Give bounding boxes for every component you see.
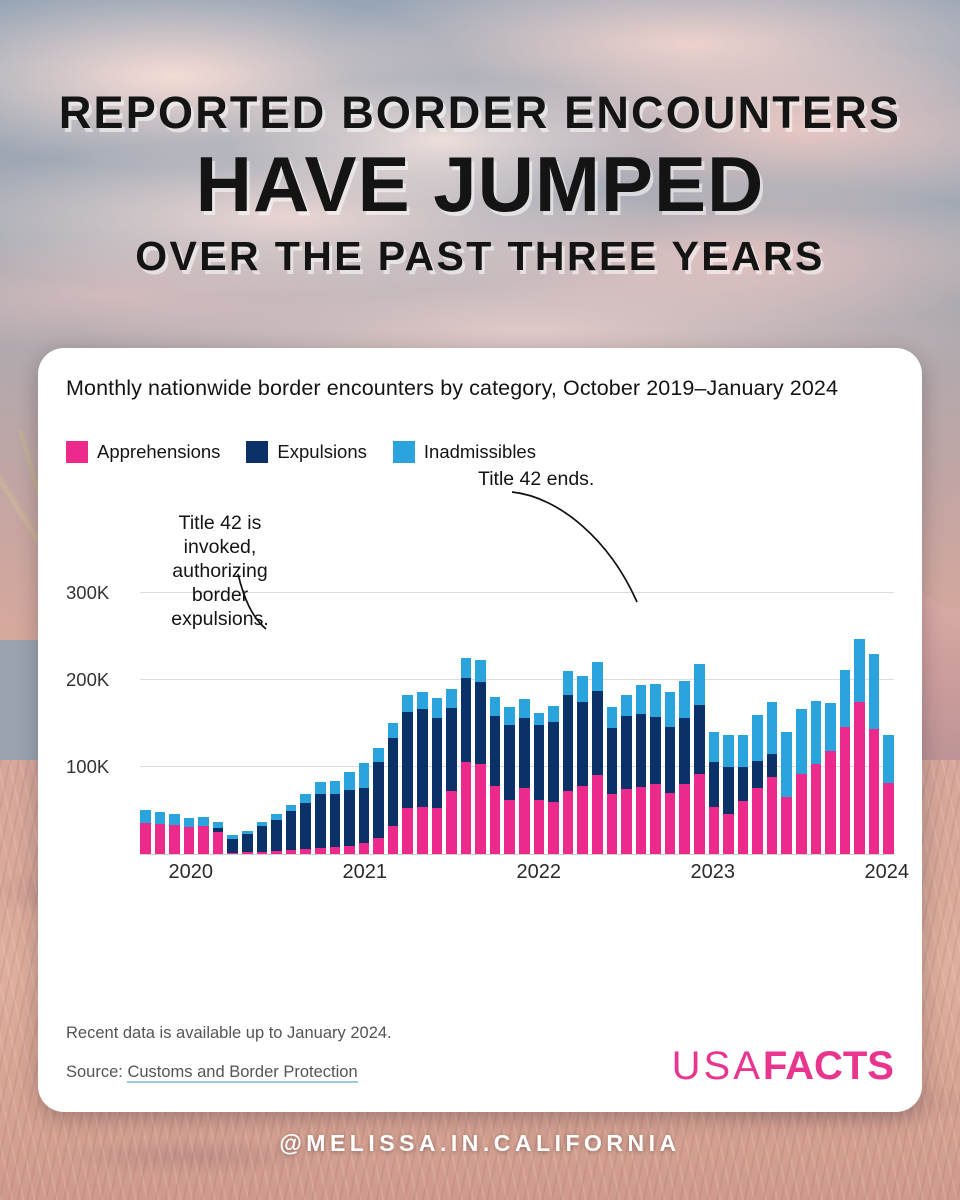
- bar-segment-inadmissibles: [811, 701, 822, 764]
- bar-segment-inadmissibles: [198, 817, 209, 826]
- bar-segment-expulsions: [432, 718, 443, 808]
- bar-segment-apprehensions: [636, 787, 647, 854]
- bar-segment-inadmissibles: [548, 706, 559, 723]
- bar-segment-apprehensions: [446, 791, 457, 854]
- bar-segment-apprehensions: [883, 783, 894, 853]
- bar-segment-expulsions: [650, 717, 661, 784]
- bar-segment-apprehensions: [490, 786, 501, 854]
- bar-segment-inadmissibles: [665, 692, 676, 727]
- legend-label-expulsions: Expulsions: [277, 441, 366, 463]
- bar-segment-inadmissibles: [330, 781, 341, 794]
- bar-2021-09[interactable]: [475, 524, 486, 854]
- bar-segment-inadmissibles: [781, 732, 792, 797]
- bar-segment-apprehensions: [796, 774, 807, 854]
- bar-segment-apprehensions: [359, 843, 370, 853]
- y-axis-label-300K: 300K: [66, 582, 130, 604]
- bar-segment-apprehensions: [869, 729, 880, 853]
- bar-segment-apprehensions: [432, 808, 443, 853]
- headline: REPORTED BORDER ENCOUNTERS HAVE JUMPED O…: [0, 88, 960, 280]
- bar-segment-apprehensions: [825, 751, 836, 853]
- bar-segment-inadmissibles: [621, 695, 632, 717]
- bar-segment-inadmissibles: [417, 692, 428, 709]
- bar-segment-expulsions: [519, 718, 530, 787]
- social-handle: @MELISSA.IN.CALIFORNIA: [0, 1130, 960, 1157]
- bar-segment-expulsions: [271, 820, 282, 851]
- bar-2023-01[interactable]: [709, 524, 720, 854]
- bar-2023-07[interactable]: [796, 524, 807, 854]
- bar-segment-inadmissibles: [475, 660, 486, 682]
- bar-segment-expulsions: [227, 839, 238, 853]
- bar-segment-inadmissibles: [169, 814, 180, 825]
- bar-segment-apprehensions: [665, 793, 676, 854]
- bar-segment-inadmissibles: [796, 709, 807, 773]
- bar-2023-04[interactable]: [752, 524, 763, 854]
- bar-segment-expulsions: [767, 754, 778, 777]
- bar-segment-expulsions: [257, 826, 268, 852]
- logo-usa: USA: [672, 1044, 763, 1088]
- bar-2021-03[interactable]: [388, 524, 399, 854]
- bar-segment-apprehensions: [650, 784, 661, 853]
- bar-segment-inadmissibles: [446, 689, 457, 708]
- bar-segment-expulsions: [461, 678, 472, 762]
- bar-segment-expulsions: [709, 762, 720, 807]
- bar-2022-05[interactable]: [592, 524, 603, 854]
- x-axis-tick-2021: 2021: [343, 861, 388, 884]
- bar-segment-apprehensions: [257, 852, 268, 854]
- bar-segment-inadmissibles: [752, 715, 763, 760]
- bar-segment-apprehensions: [519, 788, 530, 854]
- bar-segment-inadmissibles: [344, 772, 355, 790]
- bar-segment-expulsions: [621, 716, 632, 789]
- bar-segment-inadmissibles: [373, 748, 384, 762]
- bar-segment-inadmissibles: [315, 782, 326, 793]
- bar-segment-apprehensions: [286, 850, 297, 853]
- bar-segment-inadmissibles: [184, 818, 195, 828]
- x-axis-tick-2020: 2020: [169, 861, 214, 884]
- footer-note: Recent data is available up to January 2…: [66, 1024, 894, 1043]
- bar-segment-inadmissibles: [636, 685, 647, 714]
- legend-label-inadmissibles: Inadmissibles: [424, 441, 536, 463]
- bar-2022-04[interactable]: [577, 524, 588, 854]
- bar-segment-apprehensions: [854, 702, 865, 853]
- legend-swatch-expulsions: [246, 441, 268, 463]
- bar-segment-apprehensions: [140, 823, 151, 853]
- bar-segment-inadmissibles: [738, 735, 749, 767]
- bar-segment-inadmissibles: [534, 713, 545, 725]
- bar-2021-10[interactable]: [490, 524, 501, 854]
- x-axis-tick-2024: 2024: [865, 861, 910, 884]
- bar-segment-expulsions: [534, 725, 545, 800]
- headline-line-2: HAVE JUMPED: [0, 142, 960, 226]
- bar-2021-06[interactable]: [432, 524, 443, 854]
- chart-card: Monthly nationwide border encounters by …: [38, 348, 922, 1112]
- bar-segment-expulsions: [475, 682, 486, 765]
- bar-segment-apprehensions: [679, 784, 690, 853]
- bar-2022-11[interactable]: [679, 524, 690, 854]
- bar-segment-apprehensions: [577, 786, 588, 854]
- bar-segment-expulsions: [548, 722, 559, 802]
- bar-segment-apprehensions: [344, 846, 355, 854]
- bar-segment-apprehensions: [315, 848, 326, 853]
- bar-segment-expulsions: [286, 811, 297, 850]
- x-axis-tick-2023: 2023: [691, 861, 736, 884]
- bar-segment-expulsions: [665, 727, 676, 793]
- bar-segment-apprehensions: [504, 800, 515, 854]
- bar-segment-expulsions: [242, 834, 253, 852]
- bar-segment-apprehensions: [242, 852, 253, 853]
- bar-segment-expulsions: [417, 709, 428, 806]
- legend-swatch-apprehensions: [66, 441, 88, 463]
- bar-segment-inadmissibles: [461, 658, 472, 678]
- bar-segment-inadmissibles: [840, 670, 851, 726]
- bar-2023-12[interactable]: [869, 524, 880, 854]
- bar-segment-inadmissibles: [504, 707, 515, 725]
- bar-segment-apprehensions: [723, 814, 734, 853]
- bar-segment-inadmissibles: [650, 684, 661, 717]
- bar-2023-06[interactable]: [781, 524, 792, 854]
- bar-2022-03[interactable]: [563, 524, 574, 854]
- bar-2022-02[interactable]: [548, 524, 559, 854]
- bar-segment-inadmissibles: [709, 732, 720, 762]
- bar-segment-expulsions: [330, 794, 341, 848]
- bar-segment-apprehensions: [271, 851, 282, 854]
- bar-2021-01[interactable]: [359, 524, 370, 854]
- bar-2021-02[interactable]: [373, 524, 384, 854]
- bar-2020-12[interactable]: [344, 524, 355, 854]
- y-axis-label-200K: 200K: [66, 669, 130, 691]
- bar-segment-apprehensions: [694, 774, 705, 854]
- bar-segment-apprehensions: [300, 849, 311, 853]
- bar-segment-apprehensions: [184, 827, 195, 853]
- bar-2021-08[interactable]: [461, 524, 472, 854]
- bar-2022-10[interactable]: [665, 524, 676, 854]
- bar-segment-apprehensions: [548, 802, 559, 853]
- bar-segment-inadmissibles: [490, 697, 501, 716]
- bar-2023-03[interactable]: [738, 524, 749, 854]
- headline-line-3: OVER THE PAST THREE YEARS: [0, 232, 960, 280]
- bar-segment-expulsions: [300, 803, 311, 849]
- chart-plot-area: 100K200K300K 20202021202220232024 Title …: [66, 489, 894, 889]
- bar-segment-expulsions: [694, 705, 705, 774]
- legend-swatch-inadmissibles: [393, 441, 415, 463]
- x-axis-labels: 20202021202220232024: [140, 859, 894, 889]
- source-link[interactable]: Customs and Border Protection: [127, 1063, 357, 1083]
- bar-2023-09[interactable]: [825, 524, 836, 854]
- chart-legend: ApprehensionsExpulsionsInadmissibles: [66, 441, 894, 463]
- bar-2022-08[interactable]: [636, 524, 647, 854]
- bar-segment-expulsions: [592, 691, 603, 775]
- bar-segment-apprehensions: [607, 794, 618, 853]
- bar-2022-12[interactable]: [694, 524, 705, 854]
- x-axis-tick-2022: 2022: [517, 861, 562, 884]
- bar-2024-01[interactable]: [883, 524, 894, 854]
- bar-segment-apprehensions: [475, 764, 486, 853]
- bar-segment-expulsions: [402, 712, 413, 808]
- bar-segment-inadmissibles: [140, 810, 151, 823]
- bar-2020-09[interactable]: [300, 524, 311, 854]
- bar-segment-expulsions: [577, 702, 588, 785]
- bar-segment-apprehensions: [388, 826, 399, 854]
- bar-2021-11[interactable]: [504, 524, 515, 854]
- logo-facts: FACTS: [763, 1044, 894, 1088]
- legend-label-apprehensions: Apprehensions: [97, 441, 220, 463]
- bar-segment-inadmissibles: [767, 702, 778, 754]
- bar-segment-inadmissibles: [577, 676, 588, 702]
- bar-segment-inadmissibles: [869, 654, 880, 730]
- bar-segment-expulsions: [607, 728, 618, 794]
- bar-2022-06[interactable]: [607, 524, 618, 854]
- x-axis-baseline: [140, 854, 894, 856]
- bar-segment-inadmissibles: [359, 763, 370, 788]
- bar-2021-12[interactable]: [519, 524, 530, 854]
- bar-segment-inadmissibles: [854, 639, 865, 702]
- bar-segment-expulsions: [373, 762, 384, 838]
- bar-segment-apprehensions: [840, 727, 851, 854]
- bar-2020-10[interactable]: [315, 524, 326, 854]
- bar-segment-inadmissibles: [155, 812, 166, 824]
- bar-2023-10[interactable]: [840, 524, 851, 854]
- bar-2022-01[interactable]: [534, 524, 545, 854]
- bar-segment-expulsions: [752, 761, 763, 789]
- bar-segment-apprehensions: [155, 824, 166, 854]
- bar-segment-inadmissibles: [563, 671, 574, 695]
- bar-segment-apprehensions: [227, 853, 238, 854]
- bar-2021-04[interactable]: [402, 524, 413, 854]
- bar-segment-inadmissibles: [679, 681, 690, 718]
- bar-segment-expulsions: [679, 718, 690, 784]
- source-prefix: Source:: [66, 1063, 127, 1081]
- headline-line-1: REPORTED BORDER ENCOUNTERS: [0, 88, 960, 138]
- bar-segment-apprehensions: [402, 808, 413, 853]
- bar-2022-07[interactable]: [621, 524, 632, 854]
- bar-segment-apprehensions: [373, 838, 384, 854]
- bar-segment-expulsions: [490, 716, 501, 785]
- bar-segment-expulsions: [359, 788, 370, 843]
- chart-title: Monthly nationwide border encounters by …: [66, 374, 894, 403]
- card-footer: Recent data is available up to January 2…: [66, 1024, 894, 1082]
- bar-segment-expulsions: [344, 790, 355, 846]
- bar-segment-expulsions: [446, 708, 457, 791]
- bar-segment-inadmissibles: [883, 735, 894, 783]
- bar-segment-apprehensions: [534, 800, 545, 854]
- bar-segment-apprehensions: [709, 807, 720, 853]
- bar-segment-apprehensions: [781, 797, 792, 853]
- bar-segment-apprehensions: [563, 791, 574, 854]
- y-axis-label-100K: 100K: [66, 756, 130, 778]
- bar-segment-apprehensions: [417, 807, 428, 854]
- bar-segment-inadmissibles: [607, 707, 618, 729]
- legend-item-expulsions[interactable]: Expulsions: [246, 441, 366, 463]
- bar-segment-apprehensions: [169, 825, 180, 854]
- bar-segment-expulsions: [388, 738, 399, 826]
- legend-item-apprehensions[interactable]: Apprehensions: [66, 441, 220, 463]
- bar-segment-apprehensions: [738, 801, 749, 853]
- bar-2021-07[interactable]: [446, 524, 457, 854]
- bar-2023-05[interactable]: [767, 524, 778, 854]
- legend-item-inadmissibles[interactable]: Inadmissibles: [393, 441, 536, 463]
- bar-segment-inadmissibles: [694, 664, 705, 705]
- bar-segment-inadmissibles: [592, 662, 603, 691]
- bar-segment-expulsions: [315, 794, 326, 849]
- bar-segment-expulsions: [723, 767, 734, 815]
- bar-2022-09[interactable]: [650, 524, 661, 854]
- bar-segment-expulsions: [563, 695, 574, 791]
- bar-segment-inadmissibles: [825, 703, 836, 751]
- bar-segment-apprehensions: [461, 762, 472, 853]
- bar-2023-02[interactable]: [723, 524, 734, 854]
- annotation-title42-invoked: Title 42 is invoked, authorizing border …: [146, 511, 294, 631]
- bar-segment-inadmissibles: [300, 794, 311, 803]
- bar-segment-apprehensions: [198, 826, 209, 854]
- bar-segment-apprehensions: [767, 777, 778, 853]
- bar-segment-inadmissibles: [432, 698, 443, 718]
- bar-segment-inadmissibles: [519, 699, 530, 718]
- bar-segment-apprehensions: [330, 847, 341, 853]
- bar-segment-expulsions: [504, 725, 515, 800]
- bar-segment-apprehensions: [213, 832, 224, 854]
- bar-2023-08[interactable]: [811, 524, 822, 854]
- bar-2023-11[interactable]: [854, 524, 865, 854]
- bar-2020-11[interactable]: [330, 524, 341, 854]
- bar-segment-inadmissibles: [388, 723, 399, 738]
- bar-segment-apprehensions: [592, 775, 603, 853]
- bar-segment-apprehensions: [811, 764, 822, 853]
- bar-2021-05[interactable]: [417, 524, 428, 854]
- bar-segment-apprehensions: [621, 789, 632, 853]
- bar-segment-expulsions: [636, 714, 647, 787]
- bar-segment-inadmissibles: [402, 695, 413, 712]
- bar-segment-apprehensions: [752, 788, 763, 853]
- bar-segment-inadmissibles: [723, 735, 734, 767]
- usafacts-logo: USAFACTS: [672, 1046, 894, 1086]
- bar-segment-expulsions: [738, 767, 749, 802]
- annotation-title42-ends: Title 42 ends.: [478, 467, 594, 491]
